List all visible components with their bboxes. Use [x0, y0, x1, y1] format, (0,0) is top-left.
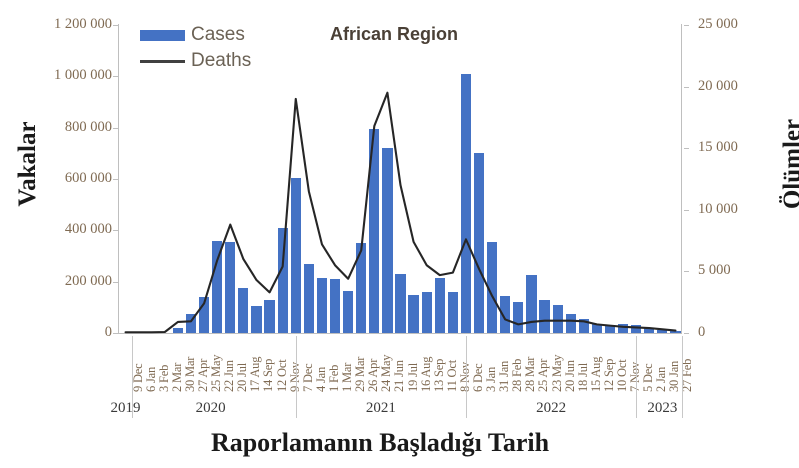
y-left-tick-1: 1 000 000 [4, 67, 112, 84]
y-right-tickmark-4 [684, 271, 689, 272]
year-separator-2 [466, 336, 467, 418]
chart-container: Vakalar Ölümler Raporlamanın Başladığı T… [0, 0, 799, 468]
year-label-2021: 2021 [366, 400, 396, 417]
y-left-tickmark-2 [113, 128, 118, 129]
legend-label-cases: Cases [191, 24, 245, 46]
y-right-tick-0: 25 000 [698, 16, 738, 33]
y-left-tickmark-3 [113, 179, 118, 180]
chart-title: African Region [330, 24, 458, 45]
y-left-tickmark-6 [113, 333, 118, 334]
y-left-tickmark-0 [113, 25, 118, 26]
y-right-tick-1: 20 000 [698, 78, 738, 95]
year-label-2020: 2020 [196, 400, 226, 417]
y-right-tickmark-2 [684, 148, 689, 149]
legend-bar-swatch-icon [140, 30, 185, 41]
year-separator-1 [296, 336, 297, 418]
x-axis-year-band: 20192020202120222023 [119, 396, 682, 424]
chart-legend: Cases Deaths [140, 22, 251, 74]
x-axis-title: Raporlamanın Başladığı Tarih [120, 428, 640, 458]
y-right-tickmark-1 [684, 87, 689, 88]
y-right-tick-3: 10 000 [698, 201, 738, 218]
y-right-tickmark-3 [684, 210, 689, 211]
legend-item-deaths: Deaths [140, 48, 251, 74]
y-right-tickmark-0 [684, 25, 689, 26]
y-left-tickmark-1 [113, 76, 118, 77]
y-left-tick-2: 800 000 [4, 119, 112, 136]
x-axis-line [118, 333, 682, 334]
y-left-tickmark-4 [113, 230, 118, 231]
x-axis-tick-labels: 9 Dec6 Jan3 Feb2 Mar30 Mar27 Apr25 May22… [119, 336, 682, 394]
y-left-tickmark-5 [113, 282, 118, 283]
year-label-2023: 2023 [647, 400, 677, 417]
y-right-tick-4: 5 000 [698, 262, 731, 279]
legend-item-cases: Cases [140, 22, 251, 48]
y-right-tick-5: 0 [698, 324, 705, 341]
year-separator-4 [682, 336, 683, 418]
y-axis-left-ticks: 1 200 0001 000 000800 000600 000400 0002… [0, 0, 112, 468]
y-right-tick-2: 15 000 [698, 139, 738, 156]
y-left-tick-3: 600 000 [4, 170, 112, 187]
y-right-tickmark-5 [684, 333, 689, 334]
y-left-tick-6: 0 [4, 324, 112, 341]
legend-line-swatch-icon [140, 60, 185, 63]
legend-label-deaths: Deaths [191, 50, 251, 72]
y-left-tick-5: 200 000 [4, 273, 112, 290]
y-left-tick-4: 400 000 [4, 221, 112, 238]
year-label-2022: 2022 [536, 400, 566, 417]
year-label-2019: 2019 [111, 400, 141, 417]
year-separator-3 [636, 336, 637, 418]
y-axis-right-ticks: 25 00020 00015 00010 0005 0000 [684, 0, 794, 468]
y-left-tick-0: 1 200 000 [4, 16, 112, 33]
